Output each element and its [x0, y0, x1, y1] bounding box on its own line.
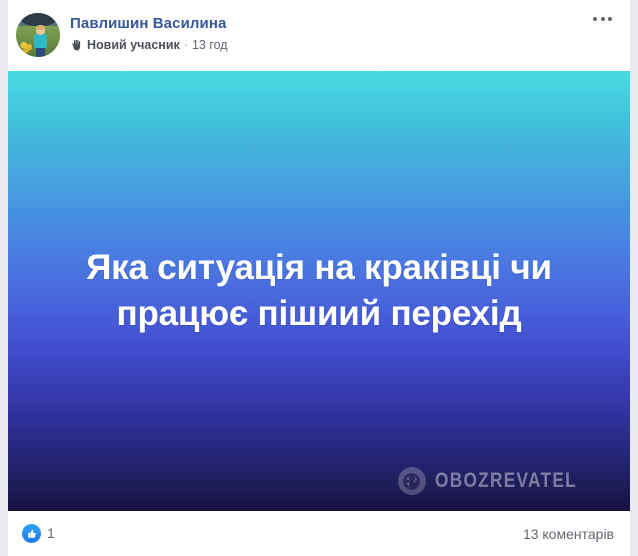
post-meta-row: Новий учасник · 13 год: [70, 37, 228, 53]
reactions-summary[interactable]: 1: [22, 524, 55, 543]
post-footer: 1 13 коментарів: [8, 511, 630, 556]
author-name-link[interactable]: Павлишин Василина: [70, 14, 228, 33]
avatar-child-hair: [36, 25, 46, 30]
post-more-options-button[interactable]: [589, 13, 616, 25]
avatar[interactable]: [16, 13, 60, 57]
waving-hand-icon: [70, 39, 83, 52]
post-header: Павлишин Василина Новий учасник · 13 год: [8, 0, 630, 71]
post-media-gradient[interactable]: Яка ситуація на краківці чи працює пішии…: [8, 71, 630, 511]
reaction-count: 1: [47, 524, 55, 543]
watermark-label: OBOZREVATEL: [435, 469, 577, 493]
ellipsis-dot-3: [608, 17, 612, 21]
facebook-post-card: Павлишин Василина Новий учасник · 13 год…: [8, 0, 630, 556]
ellipsis-dot-1: [593, 17, 597, 21]
post-media-text: Яка ситуація на краківці чи працює пішии…: [8, 245, 630, 337]
facebook-like-icon: [22, 524, 41, 543]
watermark: OBOZREVATEL: [398, 467, 608, 495]
meta-separator: ·: [184, 37, 188, 53]
new-member-badge-label: Новий учасник: [87, 37, 180, 53]
avatar-child-body: [34, 34, 46, 48]
post-timestamp[interactable]: 13 год: [192, 37, 228, 53]
avatar-flowers: [20, 40, 33, 53]
comments-count-link[interactable]: 13 коментарів: [523, 526, 614, 542]
post-header-text: Павлишин Василина Новий учасник · 13 год: [70, 9, 228, 53]
ellipsis-dot-2: [601, 17, 605, 21]
globe-icon: [398, 467, 426, 495]
